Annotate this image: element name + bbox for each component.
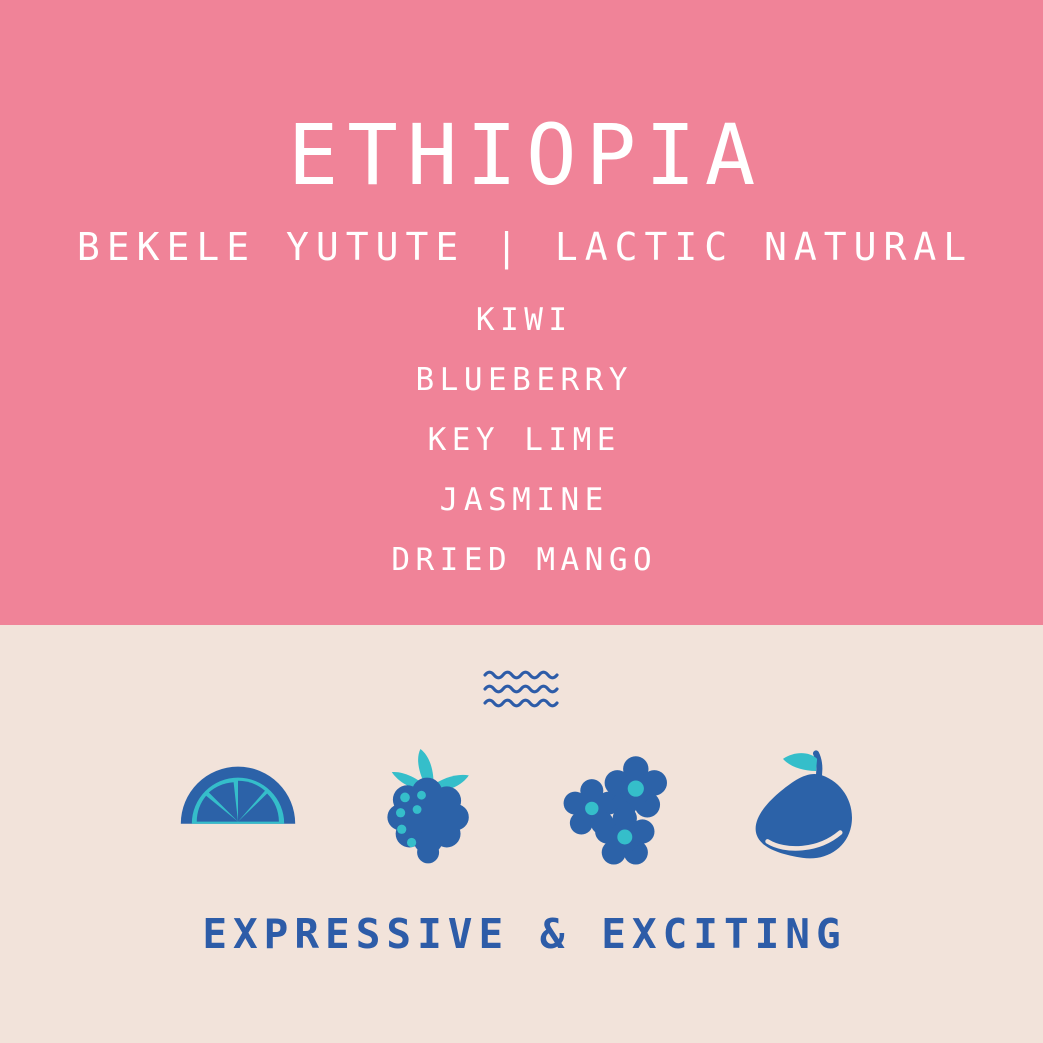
- coffee-bag-label: ETHIOPIA BEKELE YUTUTE | LACTIC NATURAL …: [0, 0, 1043, 1043]
- list-item: JASMINE: [434, 485, 609, 516]
- citrus-wedge-icon: [172, 738, 304, 870]
- origin-panel: ETHIOPIA BEKELE YUTUTE | LACTIC NATURAL …: [0, 0, 1043, 625]
- list-item: DRIED MANGO: [386, 545, 657, 576]
- flavor-icon-row: [172, 738, 872, 870]
- flavor-descriptor: EXPRESSIVE & EXCITING: [196, 914, 846, 955]
- list-item: KIWI: [470, 305, 572, 336]
- flavor-panel: EXPRESSIVE & EXCITING: [0, 625, 1043, 1043]
- page-title: ETHIOPIA: [279, 113, 765, 197]
- mango-icon: [739, 738, 871, 870]
- list-item: BLUEBERRY: [410, 365, 633, 396]
- berry-icon: [361, 738, 493, 870]
- producer-process-subtitle: BEKELE YUTUTE | LACTIC NATURAL: [70, 228, 973, 266]
- jasmine-flowers-icon: [550, 738, 682, 870]
- tasting-notes-list: KIWI BLUEBERRY KEY LIME JASMINE DRIED MA…: [386, 305, 657, 576]
- wavy-lines-icon: [482, 668, 562, 710]
- list-item: KEY LIME: [422, 425, 621, 456]
